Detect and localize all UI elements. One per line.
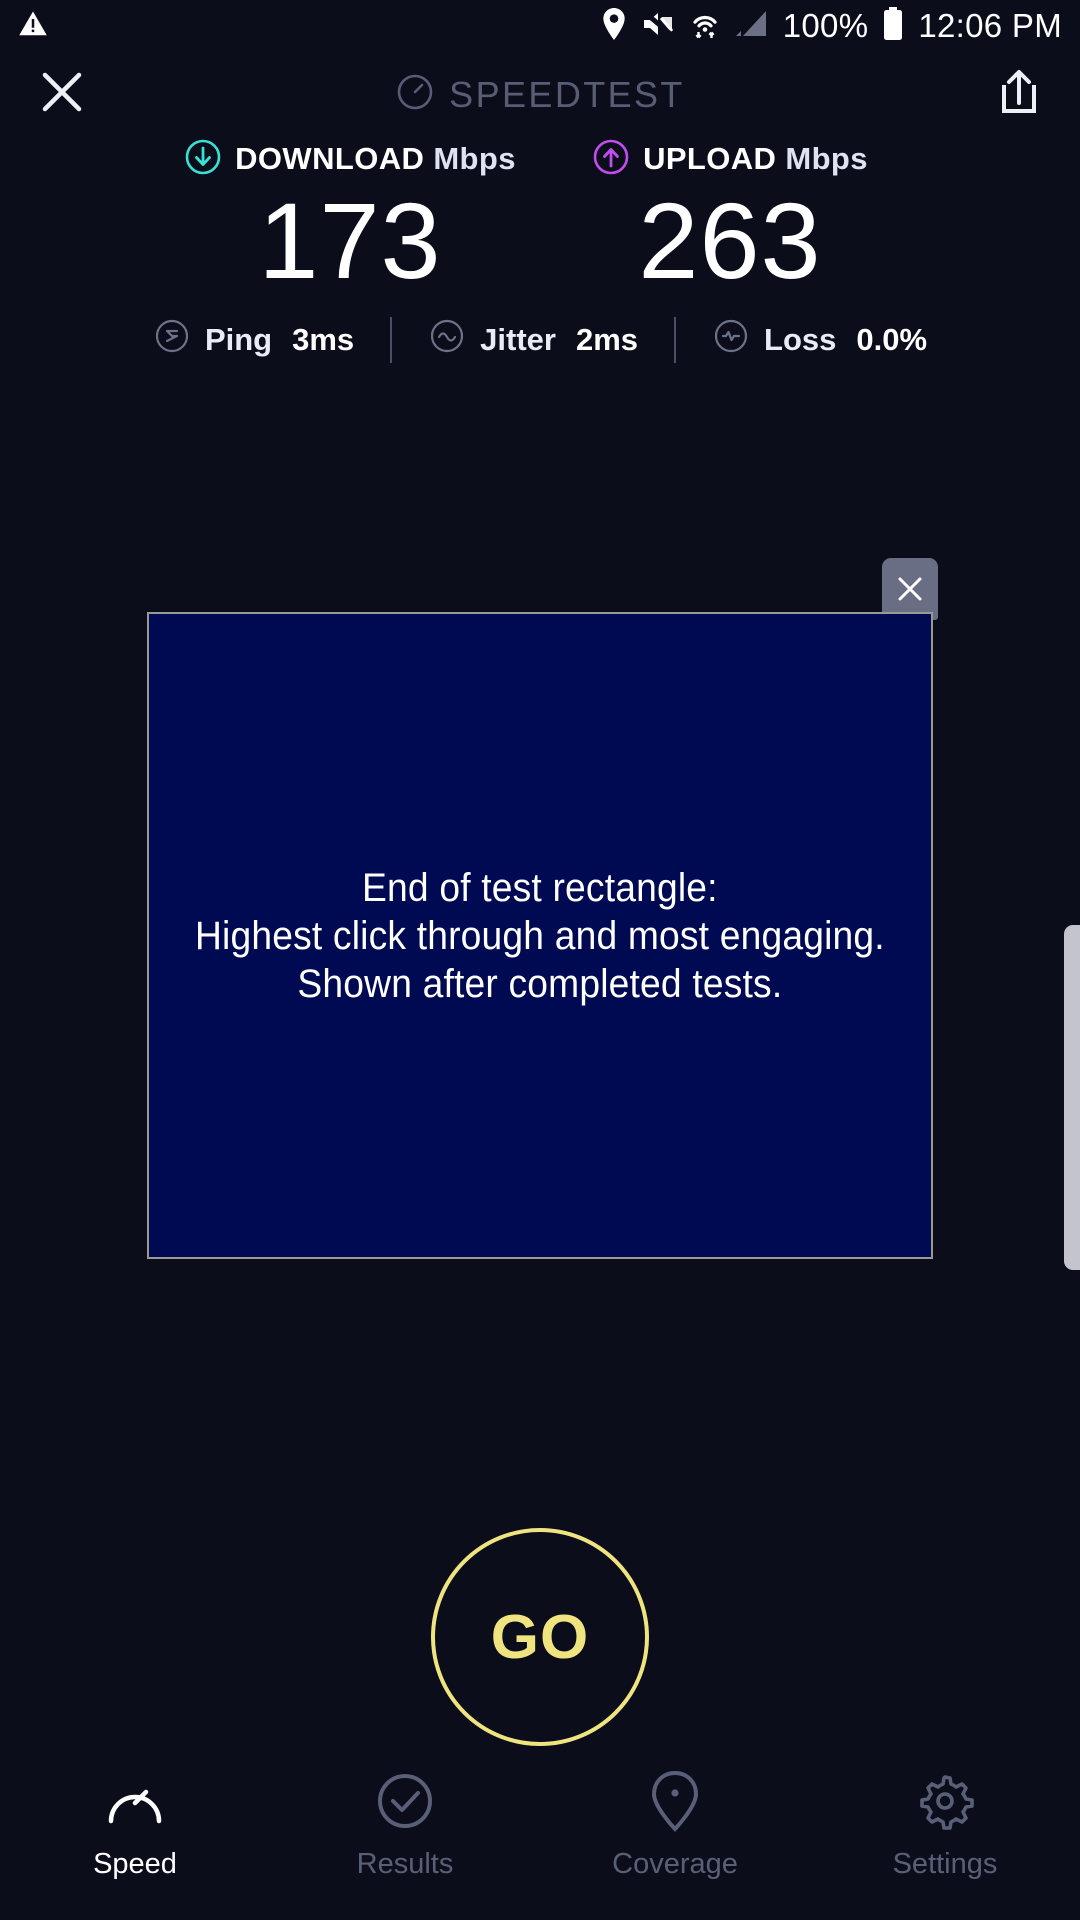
status-bar-right: 100% 12:06 PM bbox=[601, 7, 1062, 46]
stat-jitter-label: Jitter bbox=[480, 322, 556, 358]
gear-icon bbox=[915, 1772, 975, 1830]
upload-label: UPLOAD Mbps bbox=[643, 141, 868, 177]
status-bar-left bbox=[18, 9, 48, 44]
speed-metrics-row: DOWNLOAD Mbps 173 UPLOAD Mbps 263 bbox=[0, 137, 1080, 295]
stats-divider-2 bbox=[674, 317, 676, 363]
ad-banner[interactable]: End of test rectangle: Highest click thr… bbox=[147, 612, 933, 1259]
brand-label: SPEEDTEST bbox=[449, 74, 685, 116]
download-metric: DOWNLOAD Mbps 173 bbox=[160, 137, 540, 295]
ad-line-3: Shown after completed tests. bbox=[195, 960, 885, 1008]
volume-muted-icon bbox=[641, 9, 675, 44]
go-button-label: GO bbox=[491, 1602, 589, 1673]
download-arrow-icon bbox=[184, 138, 222, 181]
battery-percent: 100% bbox=[783, 7, 869, 45]
nav-label-speed: Speed bbox=[93, 1848, 177, 1881]
ping-icon bbox=[153, 317, 191, 363]
download-label: DOWNLOAD Mbps bbox=[235, 141, 516, 177]
upload-arrow-icon bbox=[592, 138, 630, 181]
nav-item-coverage[interactable]: Coverage bbox=[540, 1772, 810, 1881]
nav-item-results[interactable]: Results bbox=[270, 1772, 540, 1881]
upload-header: UPLOAD Mbps bbox=[592, 137, 868, 181]
stat-loss-value: 0.0% bbox=[856, 322, 927, 358]
check-circle-icon bbox=[375, 1772, 435, 1830]
jitter-icon bbox=[428, 317, 466, 363]
stat-jitter-value: 2ms bbox=[576, 322, 638, 358]
wifi-icon bbox=[689, 8, 721, 45]
results-panel: DOWNLOAD Mbps 173 UPLOAD Mbps 263 bbox=[0, 137, 1080, 363]
upload-metric: UPLOAD Mbps 263 bbox=[540, 137, 920, 295]
app-bar: SPEEDTEST bbox=[0, 52, 1080, 137]
nav-label-settings: Settings bbox=[893, 1848, 998, 1881]
stat-loss: Loss 0.0% bbox=[712, 317, 927, 363]
stat-loss-label: Loss bbox=[764, 322, 836, 358]
app-title: SPEEDTEST bbox=[0, 52, 1080, 137]
close-icon[interactable] bbox=[38, 68, 86, 121]
location-pin-icon bbox=[648, 1772, 702, 1830]
warning-triangle-icon bbox=[18, 9, 48, 44]
ad-close-icon[interactable] bbox=[882, 558, 938, 620]
battery-full-icon bbox=[882, 7, 904, 46]
stat-jitter: Jitter 2ms bbox=[428, 317, 638, 363]
scrollbar-thumb[interactable] bbox=[1064, 925, 1080, 1270]
location-pin-icon bbox=[601, 8, 627, 45]
status-bar-clock: 12:06 PM bbox=[918, 7, 1062, 45]
ad-text: End of test rectangle: Highest click thr… bbox=[195, 864, 885, 1008]
ad-line-2: Highest click through and most engaging. bbox=[195, 912, 885, 960]
download-header: DOWNLOAD Mbps bbox=[184, 137, 516, 181]
stat-ping: Ping 3ms bbox=[153, 317, 354, 363]
upload-value: 263 bbox=[638, 187, 821, 295]
loss-icon bbox=[712, 317, 750, 363]
download-value: 173 bbox=[258, 187, 441, 295]
ad-line-1: End of test rectangle: bbox=[195, 864, 885, 912]
nav-item-speed[interactable]: Speed bbox=[0, 1772, 270, 1881]
nav-label-results: Results bbox=[357, 1848, 454, 1881]
stats-divider bbox=[390, 317, 392, 363]
stat-ping-label: Ping bbox=[205, 322, 272, 358]
stat-ping-value: 3ms bbox=[292, 322, 354, 358]
nav-label-coverage: Coverage bbox=[612, 1848, 738, 1881]
connection-stats-row: Ping 3ms Jitter 2ms Loss 0.0 bbox=[0, 317, 1080, 363]
nav-item-settings[interactable]: Settings bbox=[810, 1772, 1080, 1881]
status-bar: 100% 12:06 PM bbox=[0, 0, 1080, 52]
bottom-navigation: Speed Results Coverage Settings bbox=[0, 1760, 1080, 1920]
speedometer-icon bbox=[395, 72, 435, 117]
share-icon[interactable] bbox=[996, 67, 1042, 122]
go-button[interactable]: GO bbox=[431, 1528, 649, 1746]
advertisement: End of test rectangle: Highest click thr… bbox=[147, 612, 933, 1259]
speedometer-icon bbox=[104, 1772, 166, 1830]
cellular-signal-icon bbox=[735, 9, 769, 44]
